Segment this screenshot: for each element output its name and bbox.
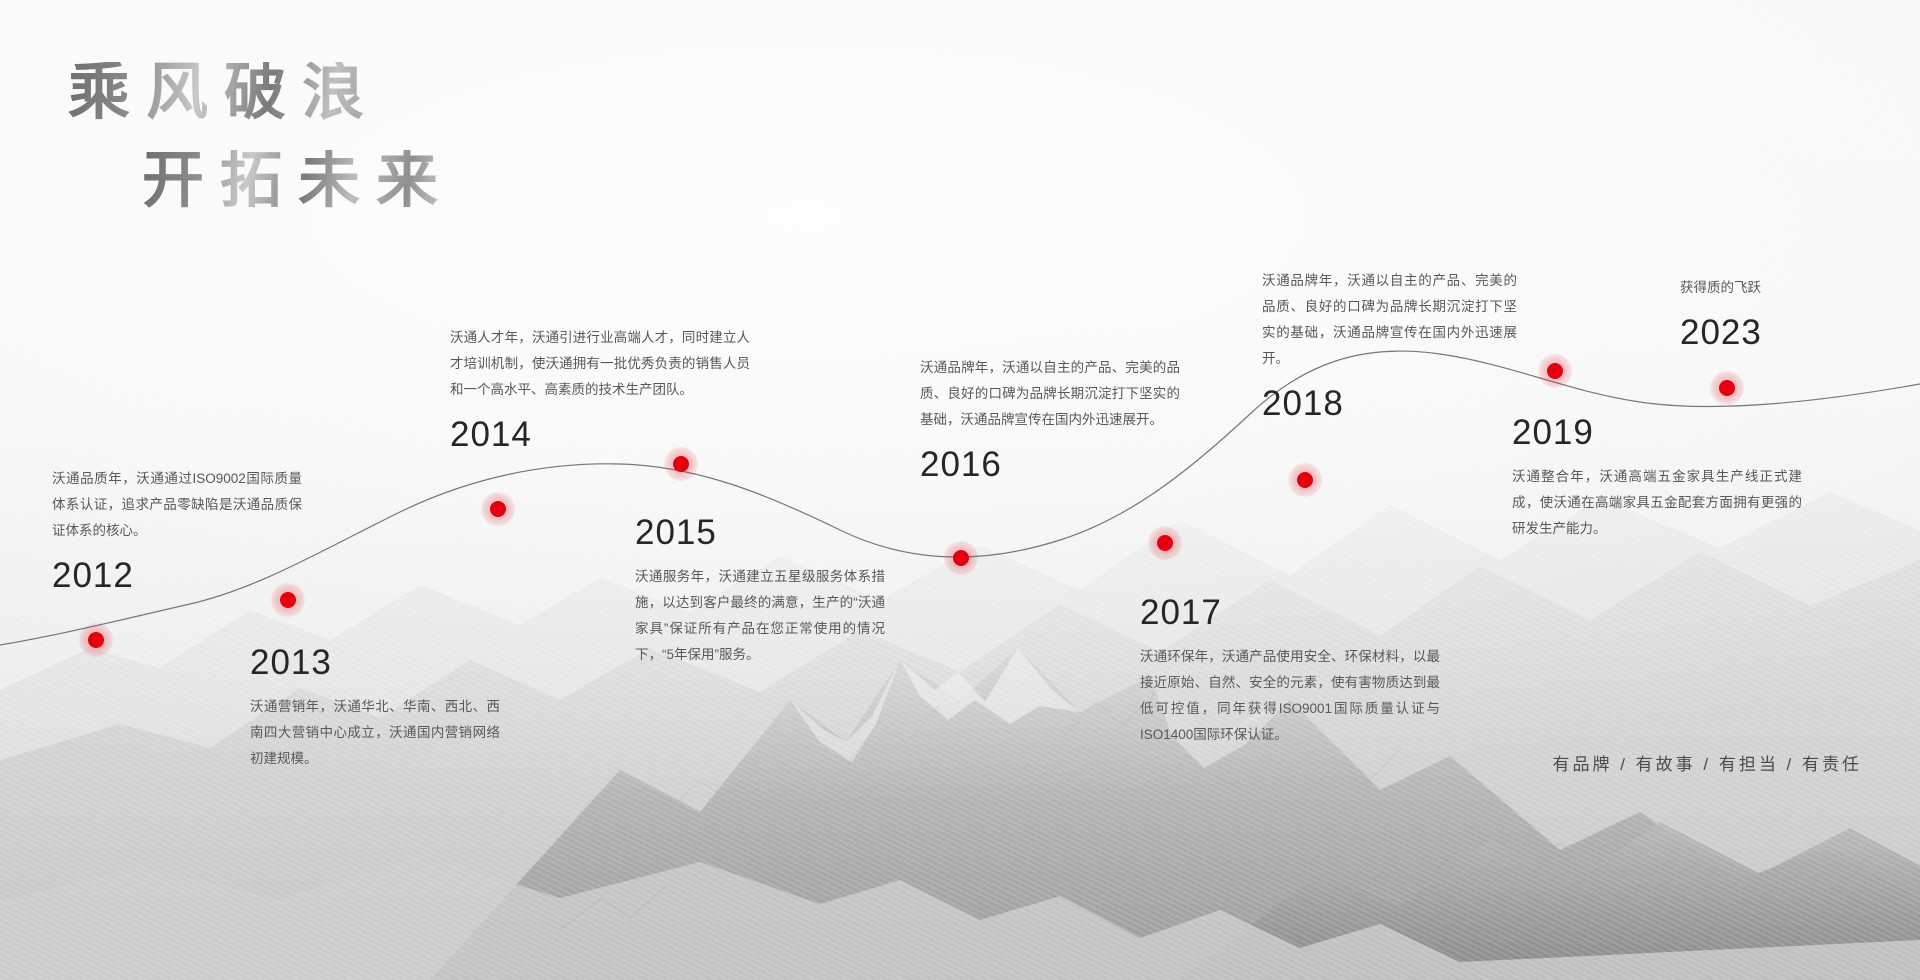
entry-year: 2019 xyxy=(1512,415,1802,450)
entry-year: 2016 xyxy=(920,447,1180,482)
entry-year: 2014 xyxy=(450,417,750,452)
node-dot-icon xyxy=(673,456,689,472)
entry-description: 沃通品牌年，沃通以自主的产品、完美的品质、良好的口碑为品牌长期沉淀打下坚实的基础… xyxy=(1262,268,1517,372)
poster-canvas: 乘风破浪 开拓未来 沃通品质年， xyxy=(0,0,1920,980)
node-dot-icon xyxy=(953,550,969,566)
node-dot-icon xyxy=(1297,472,1313,488)
entry-year: 2023 xyxy=(1680,315,1900,350)
entry-description: 沃通品牌年，沃通以自主的产品、完美的品质、良好的口碑为品牌长期沉淀打下坚实的基础… xyxy=(920,355,1180,433)
timeline-entry-2016[interactable]: 沃通品牌年，沃通以自主的产品、完美的品质、良好的口碑为品牌长期沉淀打下坚实的基础… xyxy=(920,355,1180,482)
timeline-entry-2015[interactable]: 2015 沃通服务年，沃通建立五星级服务体系措施，以达到客户最终的满意，生产的“… xyxy=(635,515,885,668)
timeline-entry-2012[interactable]: 沃通品质年，沃通通过ISO9002国际质量体系认证，追求产品零缺陷是沃通品质保证… xyxy=(52,466,302,593)
timeline-entry-2014[interactable]: 沃通人才年，沃通引进行业高端人才，同时建立人才培训机制，使沃通拥有一批优秀负责的… xyxy=(450,325,750,452)
entry-description: 沃通服务年，沃通建立五星级服务体系措施，以达到客户最终的满意，生产的“沃通家具”… xyxy=(635,564,885,668)
poster-title: 乘风破浪 开拓未来 xyxy=(68,62,454,212)
node-dot-icon xyxy=(1547,363,1563,379)
entry-year: 2013 xyxy=(250,645,500,680)
timeline-entry-2017[interactable]: 2017 沃通环保年，沃通产品使用安全、环保材料，以最接近原始、自然、安全的元素… xyxy=(1140,595,1440,748)
entry-year: 2012 xyxy=(52,558,302,593)
entry-year: 2017 xyxy=(1140,595,1440,630)
entry-description: 沃通环保年，沃通产品使用安全、环保材料，以最接近原始、自然、安全的元素，使有害物… xyxy=(1140,644,1440,748)
title-line-1: 乘风破浪 xyxy=(68,62,454,124)
entry-description: 沃通营销年，沃通华北、华南、西北、西南四大营销中心成立，沃通国内营销网络初建规模… xyxy=(250,694,500,772)
entry-description: 沃通人才年，沃通引进行业高端人才，同时建立人才培训机制，使沃通拥有一批优秀负责的… xyxy=(450,325,750,403)
entry-description: 获得质的飞跃 xyxy=(1680,275,1900,301)
timeline-entry-2019[interactable]: 2019 沃通整合年，沃通高端五金家具生产线正式建成，使沃通在高端家具五金配套方… xyxy=(1512,415,1802,542)
timeline-entry-2023[interactable]: 获得质的飞跃 2023 xyxy=(1680,275,1900,350)
entry-description: 沃通整合年，沃通高端五金家具生产线正式建成，使沃通在高端家具五金配套方面拥有更强… xyxy=(1512,464,1802,542)
node-dot-icon xyxy=(490,501,506,517)
node-dot-icon xyxy=(88,632,104,648)
timeline-entry-2013[interactable]: 2013 沃通营销年，沃通华北、华南、西北、西南四大营销中心成立，沃通国内营销网… xyxy=(250,645,500,772)
entry-year: 2018 xyxy=(1262,386,1517,421)
node-dot-icon xyxy=(1719,380,1735,396)
node-dot-icon xyxy=(280,592,296,608)
title-line-2: 开拓未来 xyxy=(142,150,454,212)
entry-year: 2015 xyxy=(635,515,885,550)
timeline-entry-2018[interactable]: 沃通品牌年，沃通以自主的产品、完美的品质、良好的口碑为品牌长期沉淀打下坚实的基础… xyxy=(1262,268,1517,421)
node-dot-icon xyxy=(1157,535,1173,551)
footer-tagline: 有品牌 / 有故事 / 有担当 / 有责任 xyxy=(1552,750,1862,775)
entry-description: 沃通品质年，沃通通过ISO9002国际质量体系认证，追求产品零缺陷是沃通品质保证… xyxy=(52,466,302,544)
